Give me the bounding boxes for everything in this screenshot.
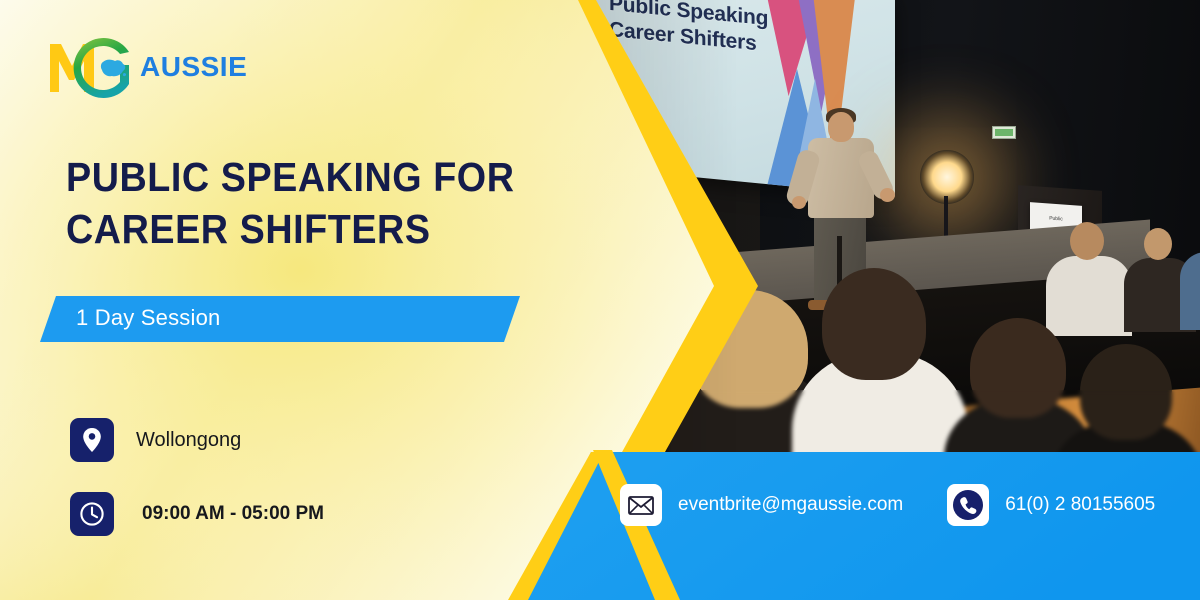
brand-logo[interactable]: AUSSIE — [46, 36, 247, 98]
envelope-icon — [620, 484, 662, 526]
event-details: Wollongong 09:00 AM - 05:00 PM — [70, 418, 324, 566]
content-panel: AUSSIE PUBLIC SPEAKING FOR CAREER SHIFTE… — [0, 0, 560, 600]
email-text: eventbrite@mgaussie.com — [678, 494, 903, 516]
mg-monogram-icon — [46, 36, 140, 98]
phone-text: 61(0) 2 80155605 — [1005, 494, 1155, 516]
map-pin-icon — [70, 418, 114, 462]
phone-icon — [947, 484, 989, 526]
contact-bar: eventbrite@mgaussie.com 61(0) 2 80155605 — [620, 484, 1155, 526]
phone-contact[interactable]: 61(0) 2 80155605 — [947, 484, 1155, 526]
event-banner: Public Speaking Career Shifters Public S… — [0, 0, 1200, 600]
session-badge: 1 Day Session — [40, 296, 520, 342]
logo-wordmark: AUSSIE — [140, 51, 247, 83]
title-line-1: PUBLIC SPEAKING FOR — [66, 152, 452, 204]
clock-icon — [70, 492, 114, 536]
location-row: Wollongong — [70, 418, 324, 462]
page-title: PUBLIC SPEAKING FOR CAREER SHIFTERS — [66, 152, 452, 255]
email-contact[interactable]: eventbrite@mgaussie.com — [620, 484, 903, 526]
time-text: 09:00 AM - 05:00 PM — [142, 503, 324, 525]
session-badge-label: 1 Day Session — [76, 305, 220, 331]
title-line-2: CAREER SHIFTERS — [66, 204, 452, 256]
location-text: Wollongong — [136, 429, 241, 452]
time-row: 09:00 AM - 05:00 PM — [70, 492, 324, 536]
